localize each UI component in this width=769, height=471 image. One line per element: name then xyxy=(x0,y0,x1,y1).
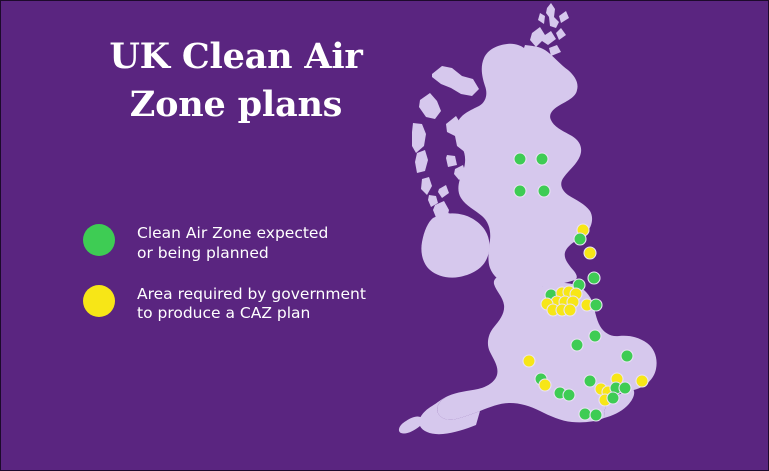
legend: Clean Air Zone expected or being planned… xyxy=(83,223,413,344)
legend-yellow-line-2: to produce a CAZ plan xyxy=(137,304,366,324)
title-line-2: Zone plans xyxy=(71,81,401,129)
green-circle-icon xyxy=(83,224,115,256)
yellow-circle-icon xyxy=(83,285,115,317)
legend-item-yellow: Area required by government to produce a… xyxy=(83,284,413,325)
infographic-canvas: UK Clean Air Zone plans Clean Air Zone e… xyxy=(0,0,769,471)
legend-item-yellow-label: Area required by government to produce a… xyxy=(137,284,366,325)
legend-green-line-1: Clean Air Zone expected xyxy=(137,224,328,244)
legend-item-green: Clean Air Zone expected or being planned xyxy=(83,223,413,264)
uk-map xyxy=(396,1,769,471)
legend-green-line-2: or being planned xyxy=(137,244,328,264)
legend-yellow-line-1: Area required by government xyxy=(137,285,366,305)
page-title: UK Clean Air Zone plans xyxy=(71,33,401,130)
legend-item-green-label: Clean Air Zone expected or being planned xyxy=(137,223,328,264)
title-line-1: UK Clean Air xyxy=(71,33,401,81)
